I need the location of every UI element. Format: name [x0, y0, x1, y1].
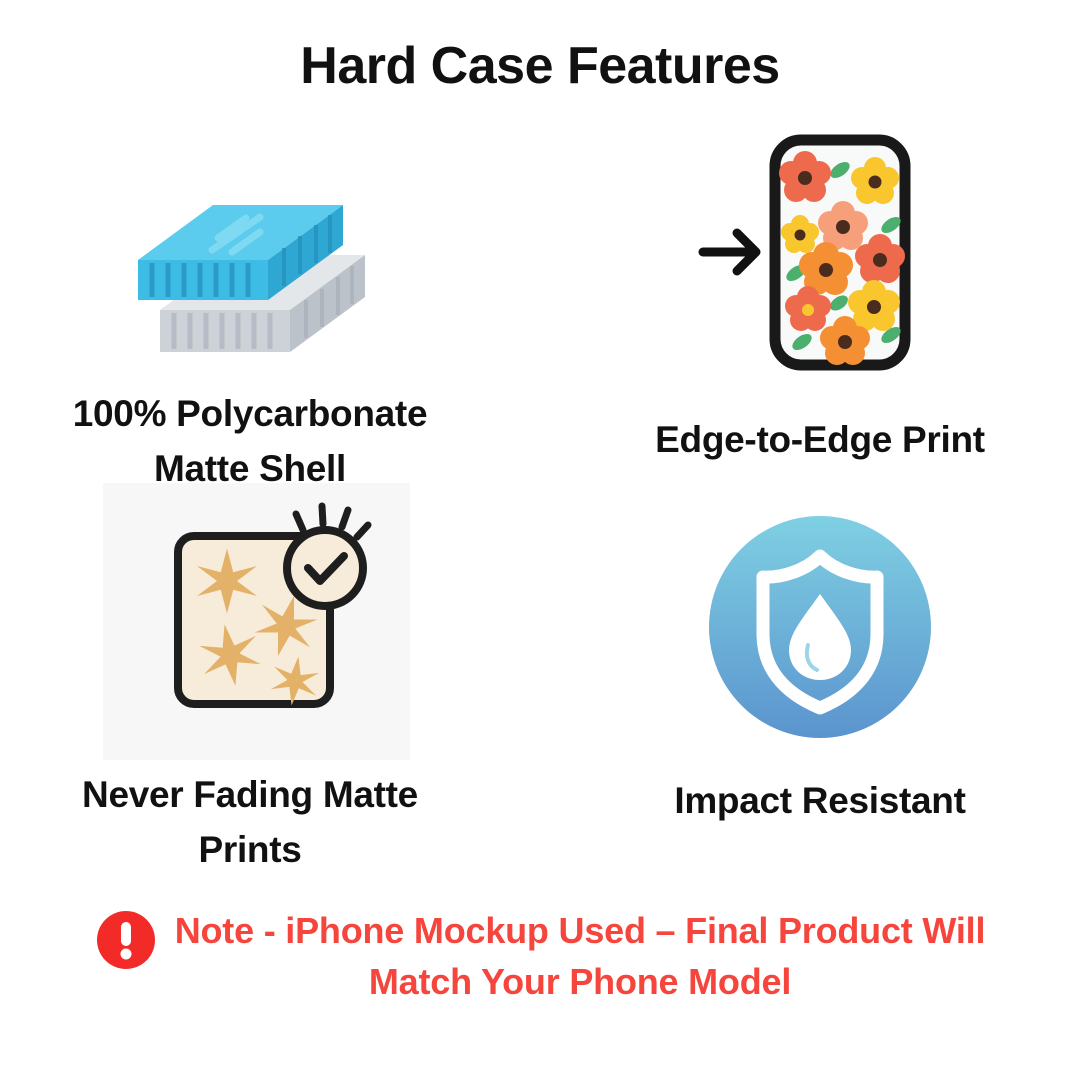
feature-4-caption: Impact Resistant [590, 774, 1050, 829]
feature-polycarbonate-shell: 100% Polycarbonate Matte Shell [20, 160, 480, 497]
disclaimer-note-text: Note - iPhone Mockup Used – Final Produc… [175, 905, 986, 1007]
feature-3-art [20, 478, 480, 746]
feature-impact-resistant: Impact Resistant [590, 516, 1050, 829]
feature-edge-to-edge-print: Edge-to-Edge Print [590, 130, 1050, 468]
feature-1-caption-line1: 100% Polycarbonate [20, 387, 480, 442]
disclaimer-note-line2: Match Your Phone Model [175, 956, 986, 1007]
feature-3-caption: Never Fading Matte Prints [20, 768, 480, 878]
arrow-right-icon [703, 233, 756, 271]
feature-3-caption-line2: Prints [20, 823, 480, 878]
feature-2-caption-line1: Edge-to-Edge Print [590, 413, 1050, 468]
shield-droplet-badge-icon [709, 516, 931, 738]
feature-4-art [590, 516, 1050, 738]
check-circle-icon [287, 506, 368, 606]
phone-case-floral-icon [695, 130, 945, 375]
feature-4-caption-line1: Impact Resistant [590, 774, 1050, 829]
sparkle-swatch-check-icon [120, 478, 380, 746]
feature-1-art [20, 160, 480, 365]
feature-2-art [590, 130, 1050, 375]
feature-never-fading-prints: Never Fading Matte Prints [20, 478, 480, 878]
disclaimer-note-line1: Note - iPhone Mockup Used – Final Produc… [175, 910, 986, 951]
disclaimer-note: Note - iPhone Mockup Used – Final Produc… [0, 905, 1080, 1007]
exclamation-circle-icon [95, 909, 157, 971]
layered-slab-icon [120, 160, 380, 365]
page-title: Hard Case Features [0, 36, 1080, 96]
feature-3-caption-line1: Never Fading Matte [20, 768, 480, 823]
feature-2-caption: Edge-to-Edge Print [590, 413, 1050, 468]
